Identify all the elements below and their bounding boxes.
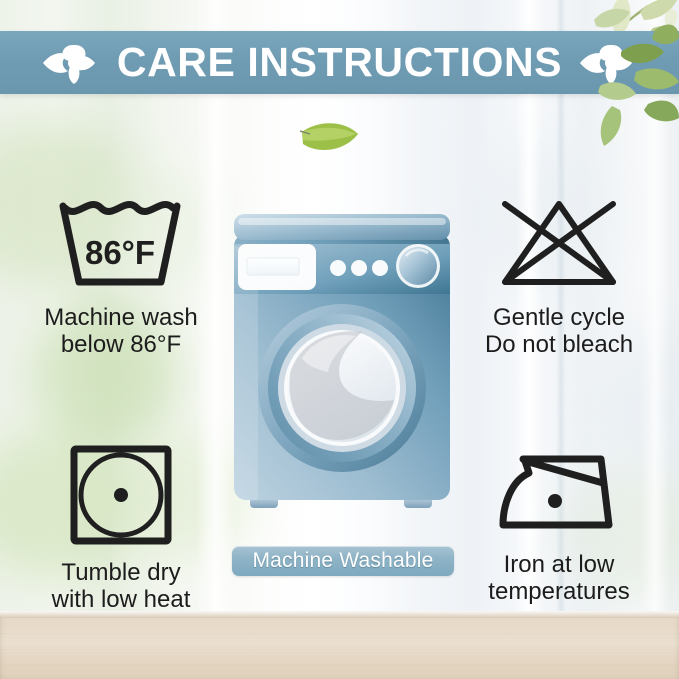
wooden-table-surface [0,611,679,679]
control-buttons [330,260,388,276]
care-symbol-caption: Iron at low temperatures [488,552,629,606]
page-title: CARE INSTRUCTIONS [117,42,562,83]
program-dial [396,244,440,288]
badge-label: Machine Washable [252,549,433,573]
fleur-de-lis-icon-left [41,41,101,85]
care-symbol-tumble-dry: Tumble dry with low heat [16,443,226,614]
care-symbol-caption: Tumble dry with low heat [52,560,191,614]
care-symbol-machine-wash: 86°F Machine wash below 86°F [16,196,226,359]
machine-door [258,304,426,472]
machine-top-lid [234,214,450,240]
machine-washable-badge[interactable]: Machine Washable [232,546,454,576]
wash-temperature-value: 86°F [85,234,155,271]
care-instructions-graphic: CARE INSTRUCTIONS [0,0,679,679]
fleur-de-lis-icon-right [578,41,638,85]
care-symbol-do-not-bleach: Gentle cycle Do not bleach [452,196,666,359]
header-banner: CARE INSTRUCTIONS [0,31,679,94]
iron-low-heat-icon [489,443,629,544]
wash-tub-icon: 86°F [51,196,191,297]
wood-grain [0,611,679,679]
low-heat-dot [114,488,128,502]
do-not-bleach-triangle-icon [489,196,629,297]
care-symbol-iron-low: Iron at low temperatures [452,443,666,606]
care-symbol-caption: Gentle cycle Do not bleach [485,305,633,359]
care-symbol-caption: Machine wash below 86°F [44,305,197,359]
tumble-dry-low-icon [66,443,176,552]
washing-machine-illustration [228,208,456,530]
low-temperature-dot [548,494,562,508]
